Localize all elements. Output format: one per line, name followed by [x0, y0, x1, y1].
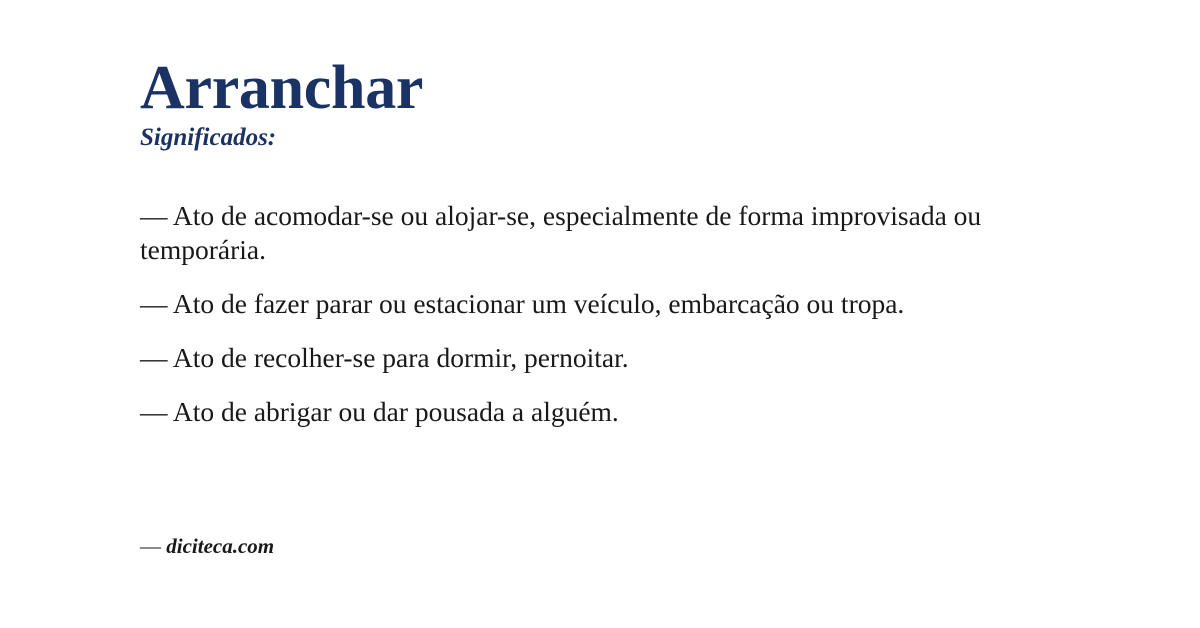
definition-text: Ato de recolher-se para dormir, pernoita… — [173, 342, 629, 373]
em-dash-icon: — — [140, 200, 168, 231]
definitions-list: — Ato de acomodar-se ou alojar-se, espec… — [140, 199, 1020, 429]
source-name: diciteca.com — [166, 534, 274, 558]
em-dash-icon: — — [140, 396, 168, 427]
definition-text: Ato de abrigar ou dar pousada a alguém. — [173, 396, 619, 427]
definition-text: Ato de acomodar-se ou alojar-se, especia… — [140, 200, 981, 265]
meanings-label: Significados: — [140, 124, 1040, 152]
definition-text: Ato de fazer parar ou estacionar um veíc… — [173, 288, 904, 319]
dash-icon: — — [140, 534, 161, 558]
list-item: — Ato de recolher-se para dormir, pernoi… — [140, 341, 1020, 375]
entry-header: Arranchar Significados: — [140, 56, 1040, 152]
list-item: — Ato de abrigar ou dar pousada a alguém… — [140, 395, 1020, 429]
em-dash-icon: — — [140, 342, 168, 373]
page-title: Arranchar — [140, 56, 1040, 120]
em-dash-icon: — — [140, 288, 168, 319]
source-attribution: — diciteca.com — [140, 533, 274, 559]
list-item: — Ato de fazer parar ou estacionar um ve… — [140, 287, 1020, 321]
definition-card: Arranchar Significados: — Ato de acomoda… — [0, 0, 1200, 628]
list-item: — Ato de acomodar-se ou alojar-se, espec… — [140, 199, 1020, 267]
